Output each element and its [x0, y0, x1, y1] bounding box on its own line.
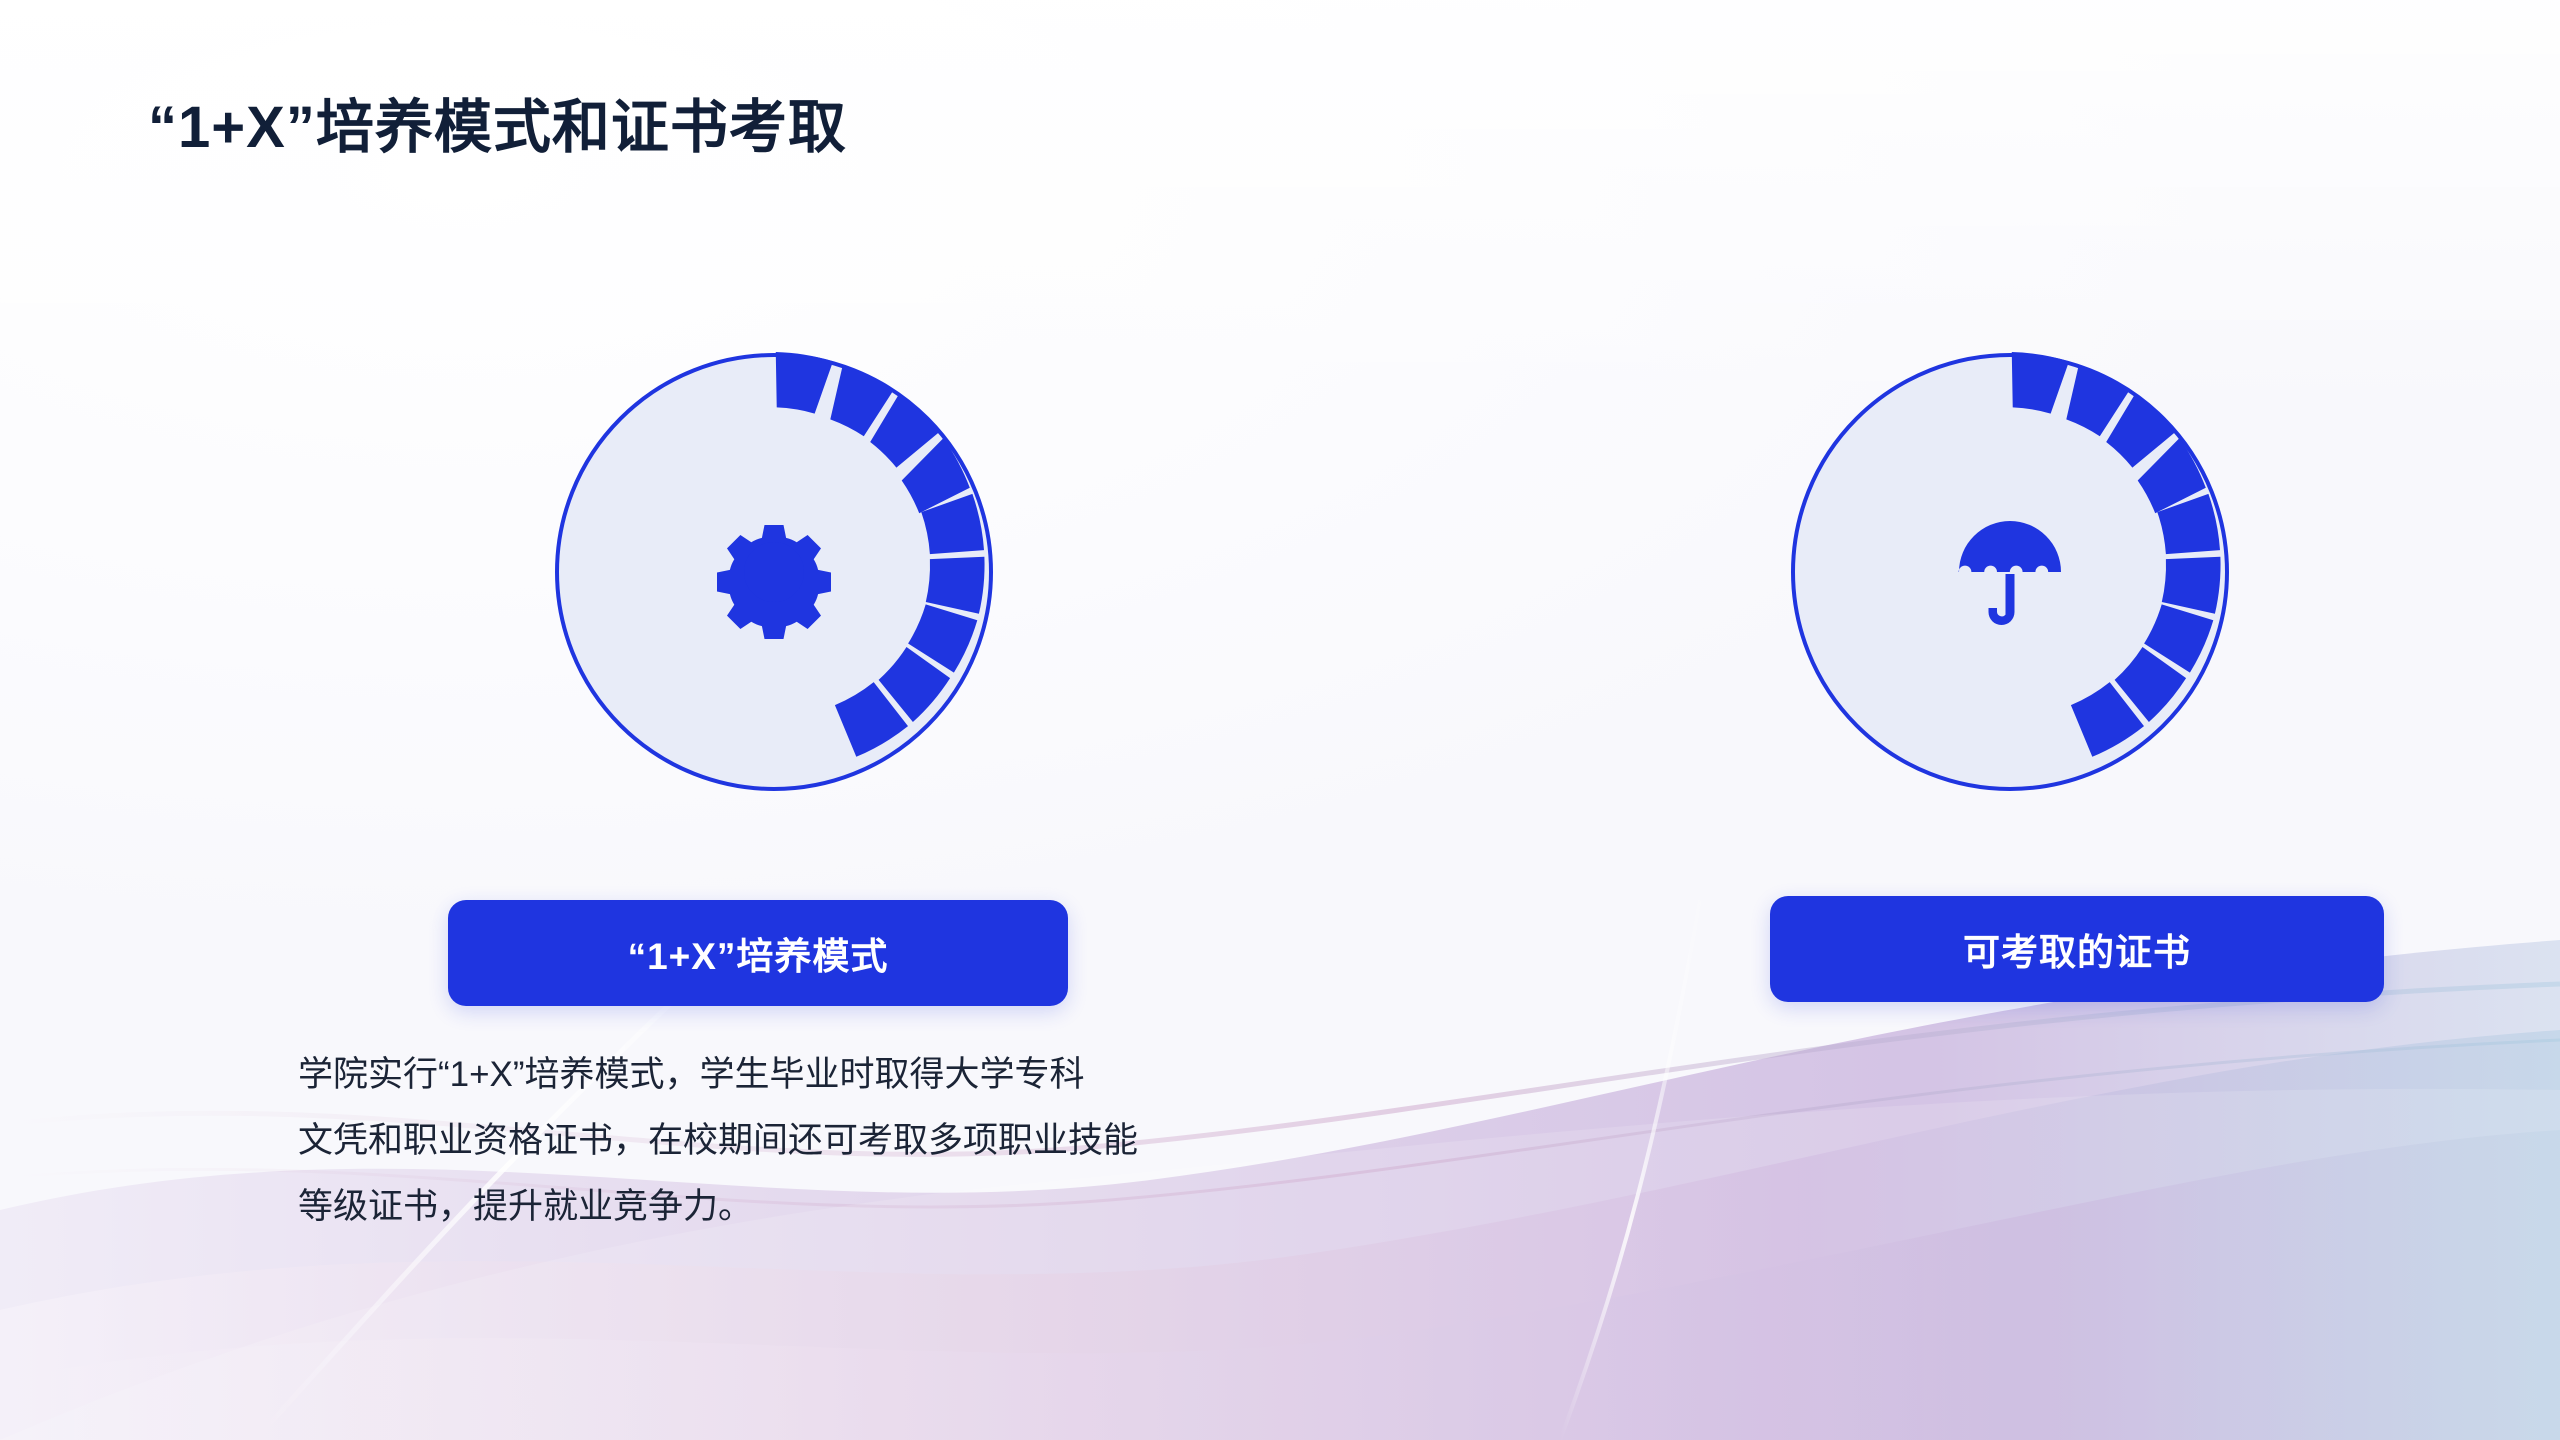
dial-umbrella — [1748, 322, 2288, 822]
pill-pattern[interactable]: “1+X”培养模式 — [448, 900, 1068, 1006]
gear-icon — [717, 525, 831, 639]
paragraph-line: 学院实行“1+X”培养模式，学生毕业时取得大学专科 — [298, 1042, 1138, 1108]
page-title: “1+X”培养模式和证书考取 — [148, 96, 847, 160]
pill-certificates[interactable]: 可考取的证书 — [1770, 896, 2384, 1002]
slide-canvas: “1+X”培养模式和证书考取 — [0, 0, 2560, 1440]
dial-gear — [512, 322, 1052, 822]
paragraph-pattern: 学院实行“1+X”培养模式，学生毕业时取得大学专科 文凭和职业资格证书，在校期间… — [298, 1042, 1138, 1240]
paragraph-line: 文凭和职业资格证书，在校期间还可考取多项职业技能 — [298, 1108, 1138, 1174]
paragraph-line: 等级证书，提升就业竞争力。 — [298, 1174, 1138, 1240]
